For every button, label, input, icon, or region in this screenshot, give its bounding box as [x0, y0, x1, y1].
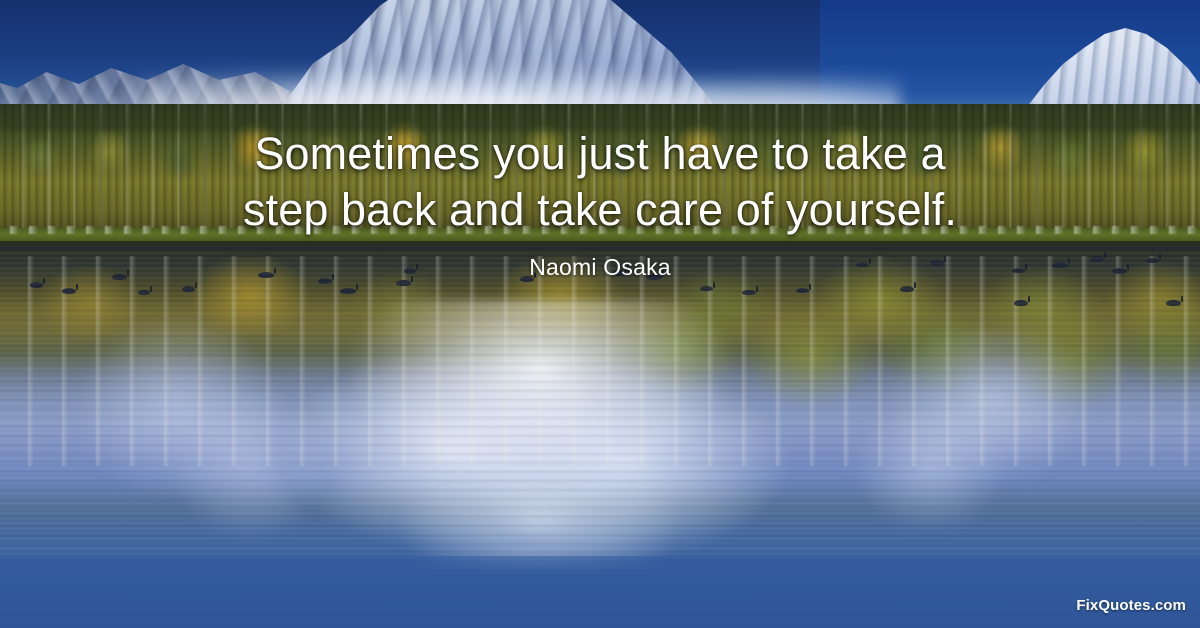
quote-text: Sometimes you just have to take a step b…: [0, 126, 1200, 238]
quote-image-card: Sometimes you just have to take a step b…: [0, 0, 1200, 628]
quote-author: Naomi Osaka: [0, 252, 1200, 282]
calm-water-foreground: [0, 556, 1200, 628]
watermark-fixquotes[interactable]: FixQuotes.com: [1076, 597, 1186, 614]
background-photograph: [0, 0, 1200, 628]
